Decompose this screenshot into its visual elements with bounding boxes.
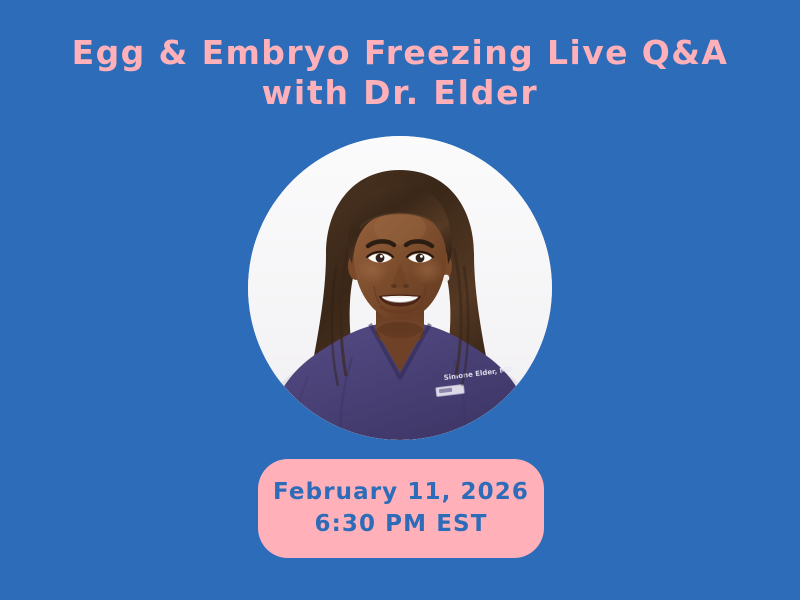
event-poster: Egg & Embryo Freezing Live Q&A with Dr. … <box>0 0 800 600</box>
page-title: Egg & Embryo Freezing Live Q&A with Dr. … <box>0 33 800 113</box>
title-line-2: with Dr. Elder <box>0 73 800 113</box>
event-date-badge: February 11, 2026 6:30 PM EST <box>258 459 544 558</box>
portrait-illustration: Simone Elder, MD <box>248 136 552 440</box>
title-line-1: Egg & Embryo Freezing Live Q&A <box>0 33 800 73</box>
event-time: 6:30 PM EST <box>314 511 487 538</box>
doctor-portrait: Simone Elder, MD <box>248 136 552 440</box>
event-date: February 11, 2026 <box>273 479 529 506</box>
